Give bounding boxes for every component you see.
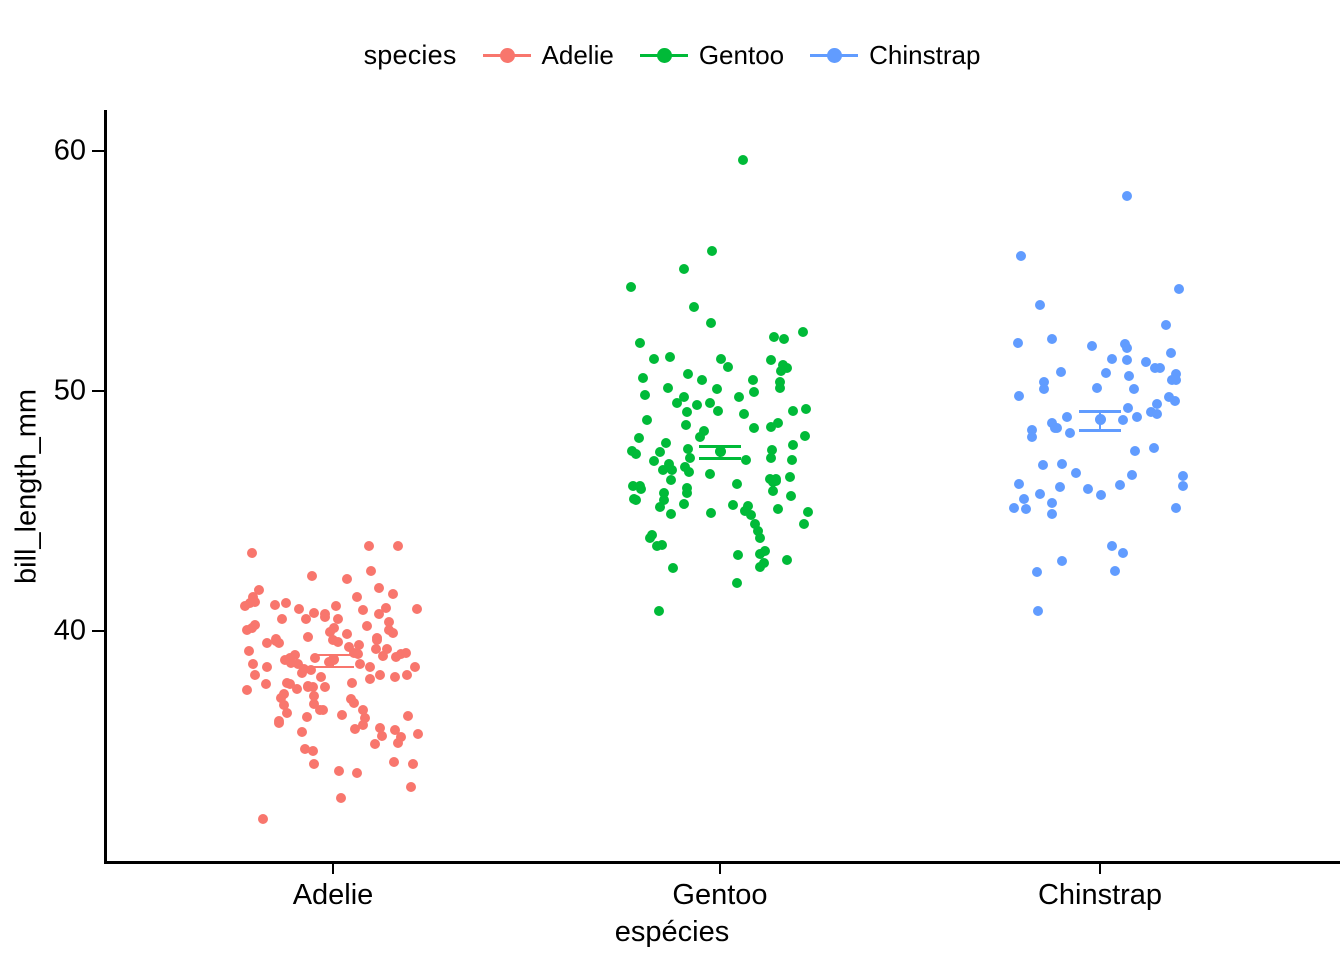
data-point <box>282 708 292 718</box>
data-point <box>728 500 738 510</box>
mean-marker <box>1095 414 1106 425</box>
data-point <box>1057 459 1067 469</box>
x-tick-mark <box>719 862 722 874</box>
data-point <box>1155 363 1165 373</box>
data-point <box>1149 443 1159 453</box>
data-point <box>242 685 252 695</box>
data-point <box>1014 479 1024 489</box>
data-point <box>1122 191 1132 201</box>
x-tick-label-adelie: Adelie <box>293 879 374 912</box>
data-point <box>766 355 776 365</box>
data-point <box>309 608 319 618</box>
chart-root: species Adelie Gentoo Chinstrap <box>0 0 1344 960</box>
data-point <box>294 604 304 614</box>
data-point <box>679 499 689 509</box>
data-point <box>292 684 302 694</box>
data-point <box>706 508 716 518</box>
legend-entry-gentoo[interactable]: Gentoo <box>640 40 784 71</box>
data-point <box>1101 368 1111 378</box>
data-point <box>635 338 645 348</box>
data-point <box>1123 403 1133 413</box>
data-point <box>779 334 789 344</box>
data-point <box>1178 471 1188 481</box>
data-point <box>375 670 385 680</box>
data-point <box>320 612 330 622</box>
data-point <box>638 373 648 383</box>
data-point <box>681 420 691 430</box>
data-point <box>782 555 792 565</box>
data-point <box>261 679 271 689</box>
data-point <box>244 646 254 656</box>
data-point <box>1033 606 1043 616</box>
data-point <box>640 390 650 400</box>
data-point <box>342 574 352 584</box>
mean-marker <box>328 654 339 665</box>
y-tick-mark <box>92 150 104 153</box>
data-point <box>1174 284 1184 294</box>
data-point <box>1178 481 1188 491</box>
data-point <box>1050 423 1060 433</box>
data-point <box>1083 484 1093 494</box>
y-tick-label: 50 <box>54 375 86 408</box>
data-point <box>766 453 776 463</box>
data-point <box>1122 355 1132 365</box>
data-point <box>308 746 318 756</box>
plot-panel <box>105 110 1339 862</box>
data-point <box>242 625 252 635</box>
data-point <box>240 601 250 611</box>
data-point <box>390 672 400 682</box>
data-point <box>1065 428 1075 438</box>
data-point <box>766 422 776 432</box>
data-point <box>666 475 676 485</box>
legend-key-chinstrap-icon <box>810 44 858 66</box>
data-point <box>316 672 326 682</box>
data-point <box>370 739 380 749</box>
data-point <box>1071 468 1081 478</box>
data-point <box>331 601 341 611</box>
data-point <box>734 392 744 402</box>
data-point <box>307 571 317 581</box>
data-point <box>1032 567 1042 577</box>
y-tick-mark <box>92 390 104 393</box>
data-point <box>393 738 403 748</box>
data-point <box>785 472 795 482</box>
data-point <box>410 662 420 672</box>
data-point <box>1096 490 1106 500</box>
data-point <box>738 155 748 165</box>
data-point <box>1124 371 1134 381</box>
data-point <box>378 651 388 661</box>
data-point <box>1110 566 1120 576</box>
data-point <box>749 423 759 433</box>
data-point <box>274 638 284 648</box>
data-point <box>649 354 659 364</box>
data-point <box>749 387 759 397</box>
data-point <box>667 465 677 475</box>
data-point <box>1107 541 1117 551</box>
data-point <box>1161 320 1171 330</box>
data-point <box>334 766 344 776</box>
data-point <box>1171 375 1181 385</box>
data-point <box>1115 480 1125 490</box>
data-point <box>1171 503 1181 513</box>
data-point <box>1039 384 1049 394</box>
data-point <box>707 246 717 256</box>
data-point <box>706 318 716 328</box>
data-point <box>634 433 644 443</box>
data-point <box>393 541 403 551</box>
data-point <box>358 605 368 615</box>
data-point <box>769 332 779 342</box>
data-point <box>1035 300 1045 310</box>
legend-key-gentoo-icon <box>640 44 688 66</box>
data-point <box>692 400 702 410</box>
x-tick-label-chinstrap: Chinstrap <box>1038 879 1162 912</box>
data-point <box>365 674 375 684</box>
data-point <box>337 710 347 720</box>
data-point <box>800 431 810 441</box>
data-point <box>406 782 416 792</box>
data-point <box>628 481 638 491</box>
data-point <box>1057 556 1067 566</box>
data-point <box>663 383 673 393</box>
x-axis-line <box>104 861 1340 864</box>
data-point <box>705 469 715 479</box>
data-point <box>1062 412 1072 422</box>
data-point <box>318 705 328 715</box>
x-tick-mark <box>332 862 335 874</box>
data-point <box>712 384 722 394</box>
legend-title: species <box>364 40 457 71</box>
data-point <box>689 302 699 312</box>
data-point <box>775 383 785 393</box>
data-point <box>684 467 694 477</box>
data-point <box>366 566 376 576</box>
y-tick-mark <box>92 630 104 633</box>
data-point <box>309 759 319 769</box>
data-point <box>1122 343 1132 353</box>
legend-key-adelie-icon <box>483 44 531 66</box>
legend-label-chinstrap: Chinstrap <box>869 40 980 71</box>
data-point <box>277 614 287 624</box>
data-point <box>336 793 346 803</box>
data-point <box>1152 409 1162 419</box>
data-point <box>365 662 375 672</box>
data-point <box>374 583 384 593</box>
data-point <box>626 282 636 292</box>
data-point <box>250 670 260 680</box>
data-point <box>682 407 692 417</box>
legend-entry-adelie[interactable]: Adelie <box>483 40 614 71</box>
data-point <box>281 598 291 608</box>
data-point <box>247 548 257 558</box>
data-point <box>629 494 639 504</box>
data-point <box>389 757 399 767</box>
y-tick-label: 40 <box>54 615 86 648</box>
data-point <box>654 606 664 616</box>
data-point <box>352 592 362 602</box>
data-point <box>661 438 671 448</box>
data-point <box>301 614 311 624</box>
data-point <box>297 668 307 678</box>
data-point <box>1170 396 1180 406</box>
data-point <box>672 398 682 408</box>
data-point <box>355 659 365 669</box>
data-point <box>798 327 808 337</box>
data-point <box>347 678 357 688</box>
data-point <box>1087 341 1097 351</box>
data-point <box>655 502 665 512</box>
legend-entry-chinstrap[interactable]: Chinstrap <box>810 40 980 71</box>
data-point <box>732 578 742 588</box>
data-point <box>320 682 330 692</box>
y-tick-label: 60 <box>54 135 86 168</box>
data-point <box>697 375 707 385</box>
data-point <box>262 638 272 648</box>
data-point <box>787 455 797 465</box>
data-point <box>408 759 418 769</box>
error-bar-cap-lower <box>312 666 354 669</box>
data-point <box>391 652 401 662</box>
data-point <box>1047 509 1057 519</box>
data-point <box>362 621 372 631</box>
data-point <box>655 447 665 457</box>
data-point <box>262 662 272 672</box>
data-point <box>1118 415 1128 425</box>
data-point <box>748 375 758 385</box>
data-point <box>776 366 786 376</box>
data-point <box>679 264 689 274</box>
x-tick-mark <box>1099 862 1102 874</box>
data-point <box>788 406 798 416</box>
data-point <box>1166 348 1176 358</box>
data-point <box>1027 432 1037 442</box>
data-point <box>412 604 422 614</box>
legend-label-adelie: Adelie <box>542 40 614 71</box>
y-axis-line <box>104 110 107 863</box>
data-point <box>631 449 641 459</box>
data-point <box>1047 498 1057 508</box>
data-point <box>695 432 705 442</box>
data-point <box>786 491 796 501</box>
data-point <box>788 440 798 450</box>
data-point <box>1019 494 1029 504</box>
y-axis-title: bill_length_mm <box>11 227 44 747</box>
data-point <box>350 724 360 734</box>
data-point <box>732 479 742 489</box>
error-bar-cap-lower <box>1079 429 1121 432</box>
data-point <box>733 550 743 560</box>
mean-marker <box>715 446 726 457</box>
data-point <box>401 648 411 658</box>
data-point <box>1127 470 1137 480</box>
data-point <box>799 519 809 529</box>
data-point <box>352 768 362 778</box>
data-point <box>642 415 652 425</box>
chart-legend: species Adelie Gentoo Chinstrap <box>0 32 1344 78</box>
data-point <box>755 533 765 543</box>
data-point <box>773 504 783 514</box>
data-point <box>636 484 646 494</box>
data-point <box>1013 338 1023 348</box>
data-point <box>666 509 676 519</box>
data-point <box>682 488 692 498</box>
data-point <box>649 456 659 466</box>
data-point <box>297 727 307 737</box>
data-point <box>665 352 675 362</box>
data-point <box>739 409 749 419</box>
x-axis-title: espécies <box>0 916 1344 949</box>
data-point <box>342 629 352 639</box>
data-point <box>282 678 292 688</box>
data-point <box>723 362 733 372</box>
data-point <box>388 589 398 599</box>
data-point <box>1009 503 1019 513</box>
data-point <box>1014 391 1024 401</box>
x-tick-label-gentoo: Gentoo <box>672 879 767 912</box>
data-point <box>403 711 413 721</box>
data-point <box>402 670 412 680</box>
data-point <box>658 465 668 475</box>
data-point <box>388 628 398 638</box>
data-point <box>755 562 765 572</box>
data-point <box>652 541 662 551</box>
data-point <box>333 637 343 647</box>
data-point <box>349 698 359 708</box>
data-point <box>303 632 313 642</box>
data-point <box>302 712 312 722</box>
data-point <box>1130 446 1140 456</box>
data-point <box>768 486 778 496</box>
data-point <box>713 406 723 416</box>
data-point <box>258 814 268 824</box>
data-point <box>1129 384 1139 394</box>
data-point <box>1055 482 1065 492</box>
legend-label-gentoo: Gentoo <box>699 40 784 71</box>
data-point <box>683 369 693 379</box>
data-point <box>801 404 811 414</box>
data-point <box>1038 460 1048 470</box>
data-point <box>803 507 813 517</box>
data-point <box>413 729 423 739</box>
data-point <box>1118 548 1128 558</box>
data-point <box>374 609 384 619</box>
data-point <box>668 563 678 573</box>
data-point <box>1035 489 1045 499</box>
data-point <box>1047 334 1057 344</box>
data-point <box>248 659 258 669</box>
data-point <box>1021 504 1031 514</box>
data-point <box>364 541 374 551</box>
data-point <box>1092 383 1102 393</box>
data-point <box>270 600 280 610</box>
data-point <box>1107 354 1117 364</box>
data-point <box>1132 412 1142 422</box>
error-bar-cap-lower <box>699 457 741 460</box>
data-point <box>1016 251 1026 261</box>
data-point <box>1056 367 1066 377</box>
data-point <box>741 455 751 465</box>
